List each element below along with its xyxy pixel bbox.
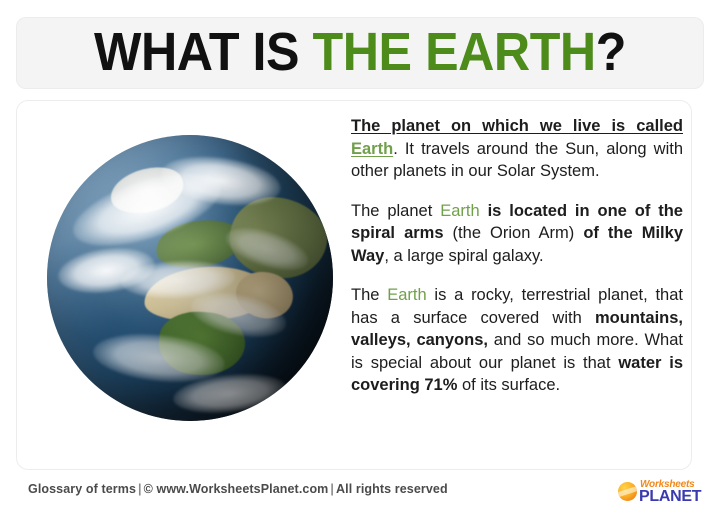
title-segment-question-mark: ? xyxy=(596,22,626,82)
location-space-1 xyxy=(480,202,488,220)
title-banner: WHAT IS THE EARTH? xyxy=(16,17,704,89)
location-text-3: , a large spiral galaxy. xyxy=(384,247,543,265)
logo-globe-icon xyxy=(618,482,637,501)
worksheet-page: WHAT IS THE EARTH? xyxy=(0,0,720,509)
definition-text-column: The planet on which we live is called Ea… xyxy=(351,115,683,397)
footer-glossary-label: Glossary of terms xyxy=(28,482,136,496)
paragraph-location: The planet Earth is located in one of th… xyxy=(351,200,683,268)
surface-text-4: of its surface. xyxy=(457,376,560,394)
title-segment-green: THE EARTH xyxy=(313,22,596,82)
location-text-2: (the Orion Arm) xyxy=(444,224,584,242)
location-text-1: The planet xyxy=(351,202,440,220)
paragraph-definition: The planet on which we live is called Ea… xyxy=(351,115,683,183)
location-keyword-earth: Earth xyxy=(440,202,479,220)
footer: Glossary of terms|© www.WorksheetsPlanet… xyxy=(0,478,720,509)
title-segment-black-first: WHAT IS xyxy=(94,22,313,82)
worksheets-planet-logo[interactable]: Worksheets PLANET xyxy=(618,478,704,504)
footer-rights-label: All rights reserved xyxy=(336,482,448,496)
page-title: WHAT IS THE EARTH? xyxy=(94,25,626,82)
earth-globe-icon xyxy=(47,135,333,421)
definition-rest: . It travels around the Sun, along with … xyxy=(351,140,683,181)
footer-separator: | xyxy=(328,482,336,496)
footer-website-link[interactable]: www.WorksheetsPlanet.com xyxy=(157,482,329,496)
copyright-icon: © xyxy=(144,482,153,496)
footer-credit-line: Glossary of terms|© www.WorksheetsPlanet… xyxy=(28,481,448,497)
earth-image-container xyxy=(31,119,349,449)
logo-bottom-word: PLANET xyxy=(639,488,701,505)
surface-text-1: The xyxy=(351,286,387,304)
footer-separator: | xyxy=(136,482,144,496)
content-panel: The planet on which we live is called Ea… xyxy=(16,100,692,470)
surface-keyword-earth: Earth xyxy=(387,286,426,304)
definition-lead-keyword: Earth xyxy=(351,140,393,158)
paragraph-surface: The Earth is a rocky, terrestrial planet… xyxy=(351,284,683,397)
definition-lead-underlined: The planet on which we live is called xyxy=(351,117,683,135)
earth-shading-layer xyxy=(47,135,333,421)
